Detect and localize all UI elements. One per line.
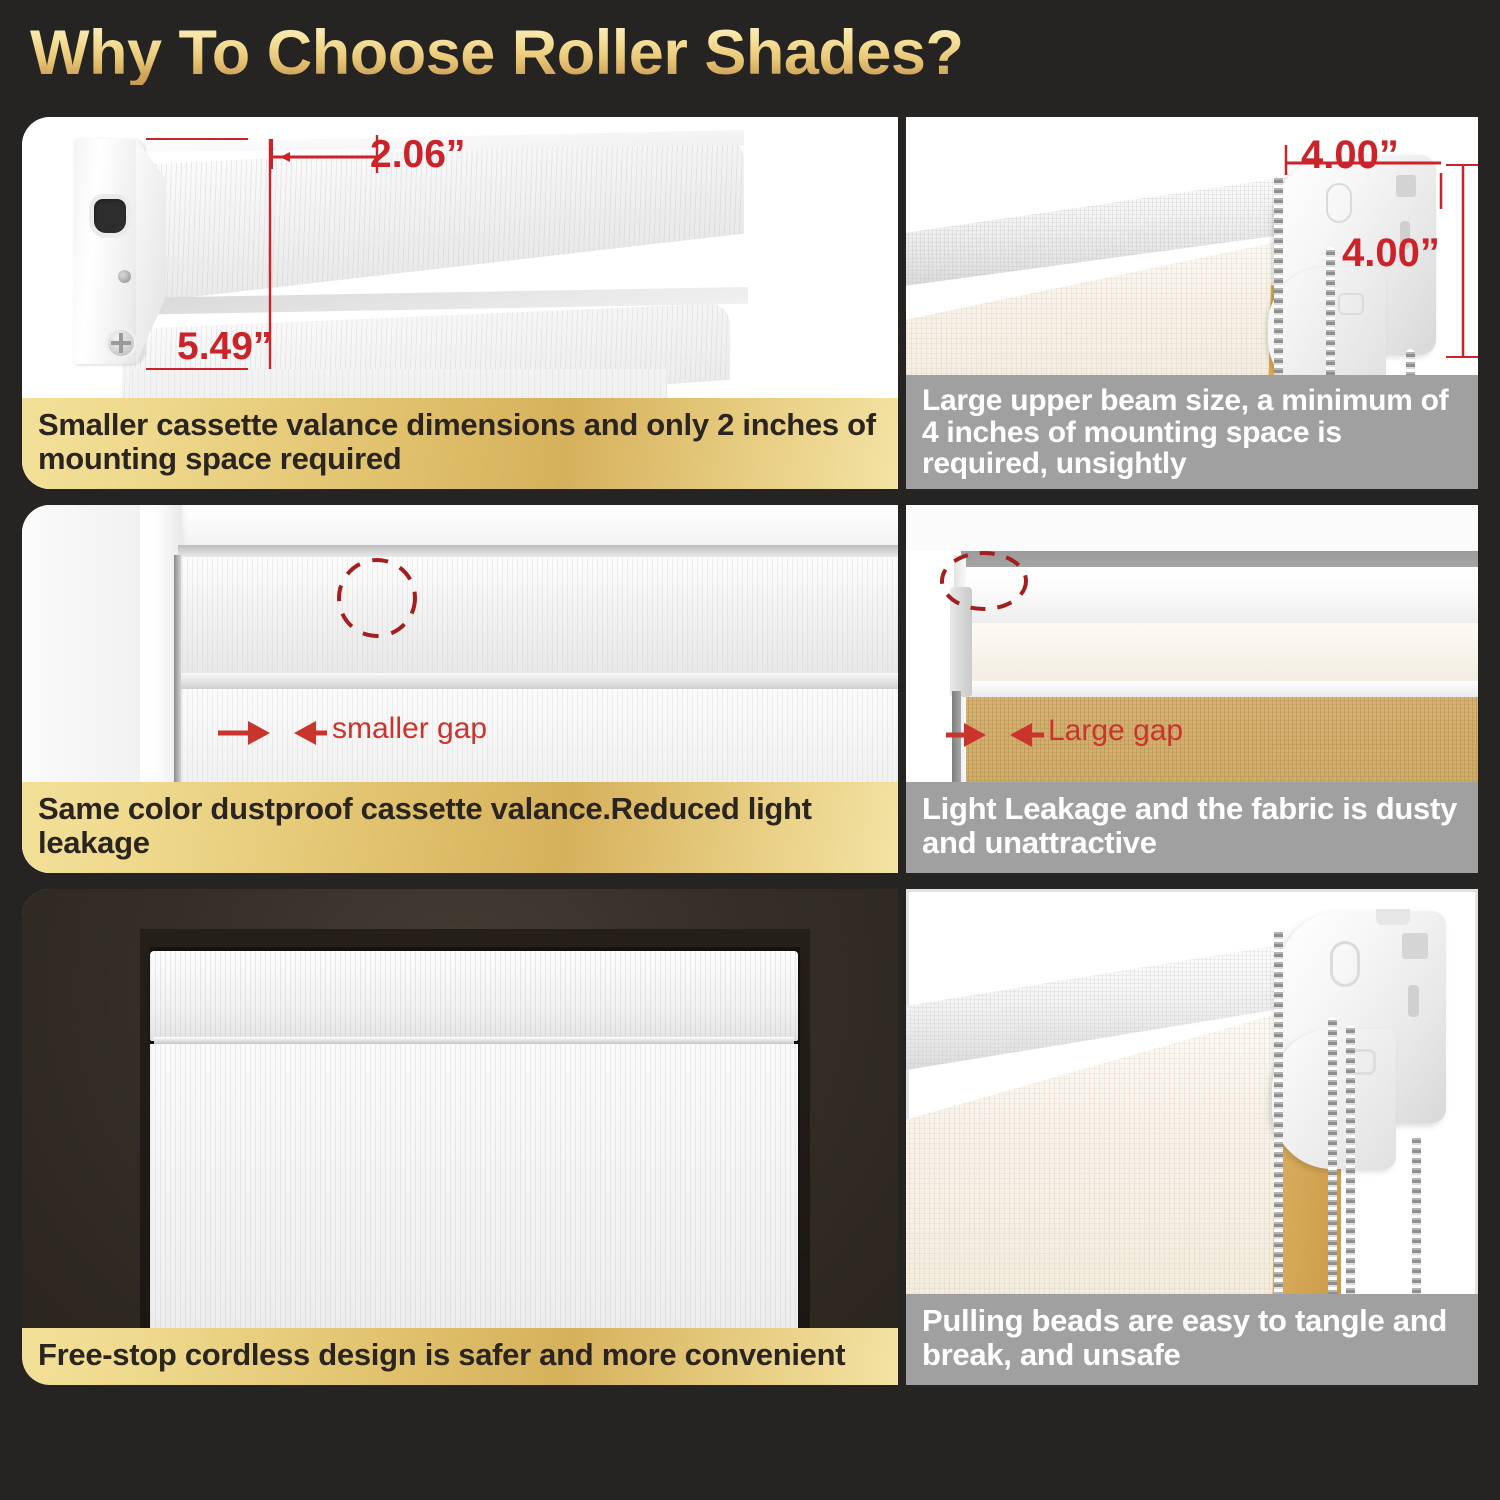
- gap-label: smaller gap: [332, 712, 487, 746]
- panel-pulling-beads: Pulling beads are easy to tangle and bre…: [906, 889, 1478, 1385]
- bracket-slot-upper: [1402, 933, 1428, 959]
- caption-panel-1: Smaller cassette valance dimensions and …: [22, 398, 898, 489]
- panel-large-upper-beam: 4.00” 4.00” Large upper beam size, a min…: [906, 117, 1478, 489]
- page-title: Why To Choose Roller Shades?: [30, 22, 963, 85]
- panel-large-gap: Large gap Light Leakage and the fabric i…: [906, 505, 1478, 873]
- wall-top: [906, 505, 1478, 551]
- panel-cordless-design: Free-stop cordless design is safer and m…: [22, 889, 898, 1385]
- bracket-notch: [1376, 909, 1410, 925]
- bracket-slot-upper: [1396, 175, 1416, 197]
- dimension-label-width: 4.00”: [1301, 133, 1399, 178]
- bracket-slot-lower: [1408, 985, 1419, 1017]
- cassette-valance: [150, 951, 798, 1041]
- dimension-label-height: 4.00”: [1342, 231, 1440, 276]
- room-window-image: [22, 889, 898, 1385]
- caption-panel-6: Pulling beads are easy to tangle and bre…: [906, 1294, 1478, 1385]
- bracket-screw-lower: [108, 330, 134, 356]
- caption-panel-2: Large upper beam size, a minimum of 4 in…: [906, 375, 1478, 489]
- dimension-label-height: 5.49”: [177, 325, 272, 369]
- shade-upper: [182, 557, 898, 675]
- infographic-root: Why To Choose Roller Shades?: [0, 0, 1500, 1500]
- panel-smaller-cassette: 2.06” 5.49” Smaller cassette valance dim…: [22, 117, 898, 489]
- gap-label: Large gap: [1048, 714, 1183, 748]
- shade-rail: [180, 673, 898, 689]
- caption-panel-5: Free-stop cordless design is safer and m…: [22, 1328, 898, 1385]
- headrail: [178, 545, 898, 557]
- side-bracket: [950, 587, 972, 697]
- panel-smaller-gap: smaller gap Same color dustproof cassett…: [22, 505, 898, 873]
- roller-tube-lower: [958, 623, 1478, 685]
- bracket-slot: [94, 199, 126, 233]
- bracket-ring-lower: [1338, 293, 1364, 315]
- dimension-label-width: 2.06”: [370, 133, 465, 177]
- caption-panel-3: Same color dustproof cassette valance.Re…: [22, 782, 898, 873]
- bracket-screw-upper: [118, 270, 131, 283]
- caption-panel-4: Light Leakage and the fabric is dusty an…: [906, 782, 1478, 873]
- bracket-ring-upper: [1330, 941, 1360, 987]
- mounting-bracket: [74, 139, 144, 364]
- frame-top: [140, 505, 898, 545]
- valance-seam: [154, 1037, 794, 1044]
- bracket-ring-upper: [1326, 183, 1352, 223]
